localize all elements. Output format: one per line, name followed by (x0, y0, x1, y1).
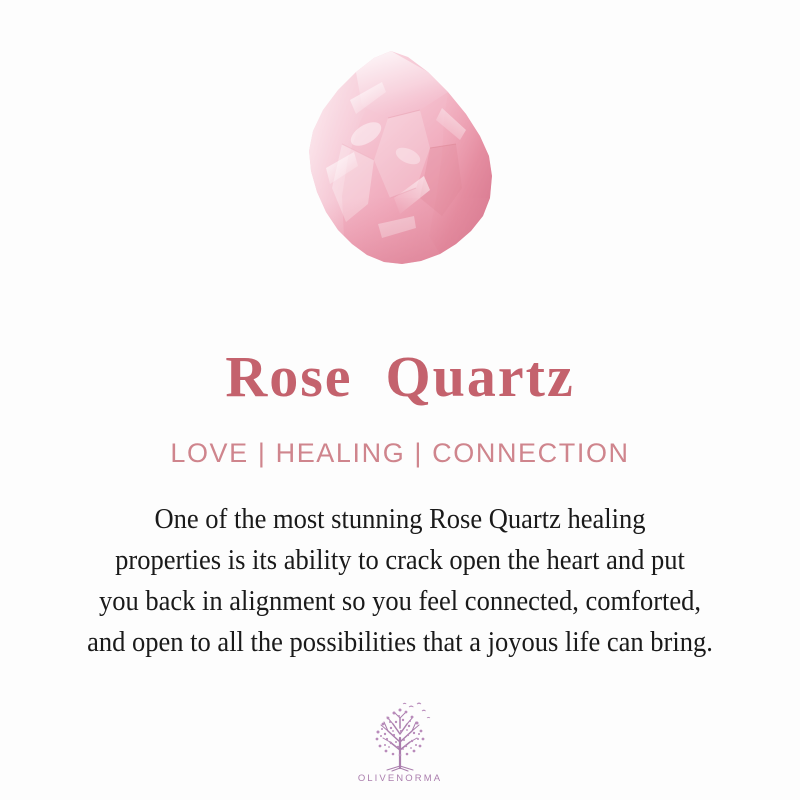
description-line: and open to all the possibilities that a… (61, 622, 740, 663)
tree-of-life-icon (363, 698, 437, 772)
poster: Rose Quartz LOVE | HEALING | CONNECTION … (0, 0, 800, 800)
description-line: One of the most stunning Rose Quartz hea… (61, 499, 740, 540)
crystal-bottom-shadow (290, 198, 510, 283)
description-line: properties is its ability to crack open … (61, 540, 740, 581)
description-text: One of the most stunning Rose Quartz hea… (61, 499, 740, 663)
keyword-subtitle: LOVE | HEALING | CONNECTION (170, 438, 629, 469)
hero-image-container (0, 0, 800, 300)
page-title: Rose Quartz (225, 348, 574, 406)
tree-birds (403, 703, 430, 718)
description-line: you back in alignment so you feel connec… (61, 581, 740, 622)
brand-logo: OLIVENORMA (0, 698, 800, 784)
rose-quartz-crystal-image (290, 48, 510, 283)
brand-wordmark: OLIVENORMA (358, 773, 442, 784)
crystal-body (290, 48, 510, 283)
